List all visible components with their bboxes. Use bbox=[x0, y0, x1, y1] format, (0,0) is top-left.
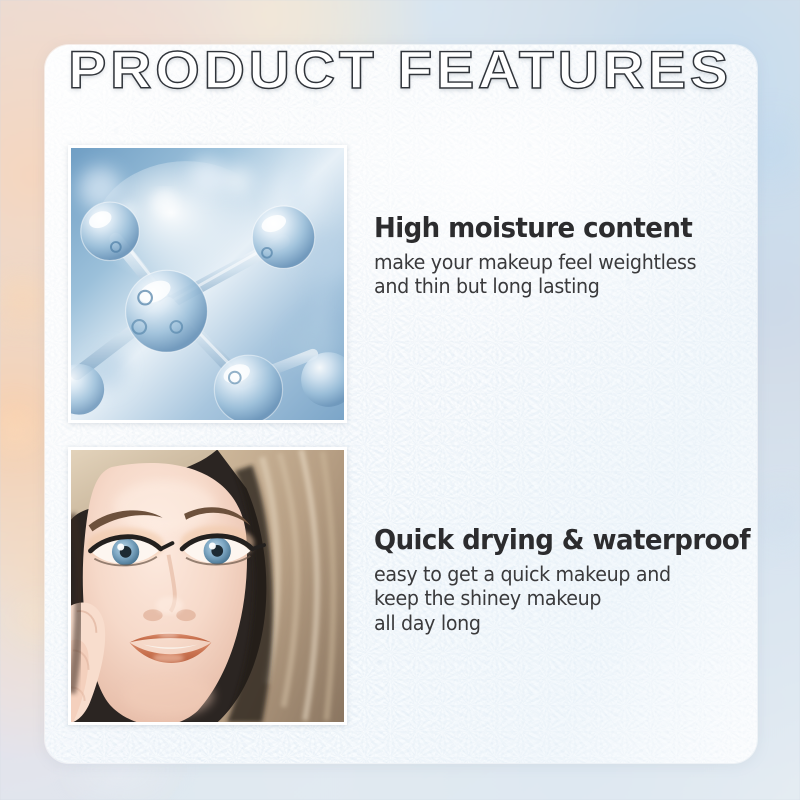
model-face-photo[interactable] bbox=[68, 447, 347, 725]
feature-body-line: keep the shiney makeup bbox=[374, 586, 746, 610]
feature-row-high-moisture: High moisture content make your makeup f… bbox=[68, 145, 774, 423]
feature-text-high-moisture: High moisture content make your makeup f… bbox=[374, 145, 774, 299]
page-title: PRODUCT FEATURES bbox=[0, 44, 800, 97]
feature-row-quick-drying: Quick drying & waterproof easy to get a … bbox=[68, 447, 774, 725]
feature-body-line: easy to get a quick makeup and bbox=[374, 562, 746, 586]
feature-heading: Quick drying & waterproof bbox=[374, 525, 746, 555]
feature-heading: High moisture content bbox=[374, 213, 746, 243]
molecule-structure-photo[interactable] bbox=[68, 145, 347, 423]
feature-body-line: make your makeup feel weightless bbox=[374, 250, 746, 274]
feature-body-line: and thin but long lasting bbox=[374, 274, 746, 298]
feature-body: easy to get a quick makeup and keep the … bbox=[374, 562, 746, 635]
page-title-text: PRODUCT FEATURES bbox=[68, 44, 732, 97]
feature-body: make your makeup feel weightless and thi… bbox=[374, 250, 746, 298]
product-features-poster: PRODUCT FEATURES bbox=[0, 0, 800, 800]
feature-body-line: all day long bbox=[374, 611, 746, 635]
feature-text-quick-drying: Quick drying & waterproof easy to get a … bbox=[374, 447, 774, 635]
